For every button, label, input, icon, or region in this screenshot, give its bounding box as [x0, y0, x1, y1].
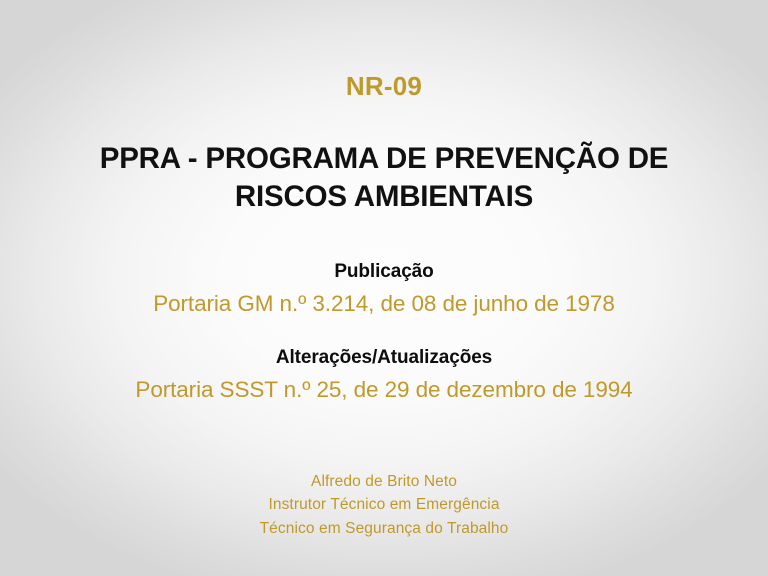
- slide-main-heading: PPRA - PROGRAMA DE PREVENÇÃO DE RISCOS A…: [0, 140, 768, 216]
- author-role-secondary: Técnico em Segurança do Trabalho: [0, 517, 768, 541]
- amendments-group: Alterações/Atualizações Portaria SSST n.…: [0, 346, 768, 405]
- publication-value: Portaria GM n.º 3.214, de 08 de junho de…: [0, 289, 768, 319]
- author-role-primary: Instrutor Técnico em Emergência: [0, 493, 768, 517]
- author-name: Alfredo de Brito Neto: [0, 470, 768, 494]
- main-heading-line-2: RISCOS AMBIENTAIS: [52, 178, 716, 216]
- publication-label: Publicação: [0, 260, 768, 285]
- presentation-slide: NR-09 PPRA - PROGRAMA DE PREVENÇÃO DE RI…: [0, 0, 768, 576]
- amendments-value: Portaria SSST n.º 25, de 29 de dezembro …: [0, 375, 768, 405]
- publication-group: Publicação Portaria GM n.º 3.214, de 08 …: [0, 260, 768, 319]
- main-heading-line-1: PPRA - PROGRAMA DE PREVENÇÃO DE: [52, 140, 716, 178]
- author-block: Alfredo de Brito Neto Instrutor Técnico …: [0, 470, 768, 541]
- amendments-label: Alterações/Atualizações: [0, 346, 768, 371]
- slide-norm-title: NR-09: [0, 72, 768, 102]
